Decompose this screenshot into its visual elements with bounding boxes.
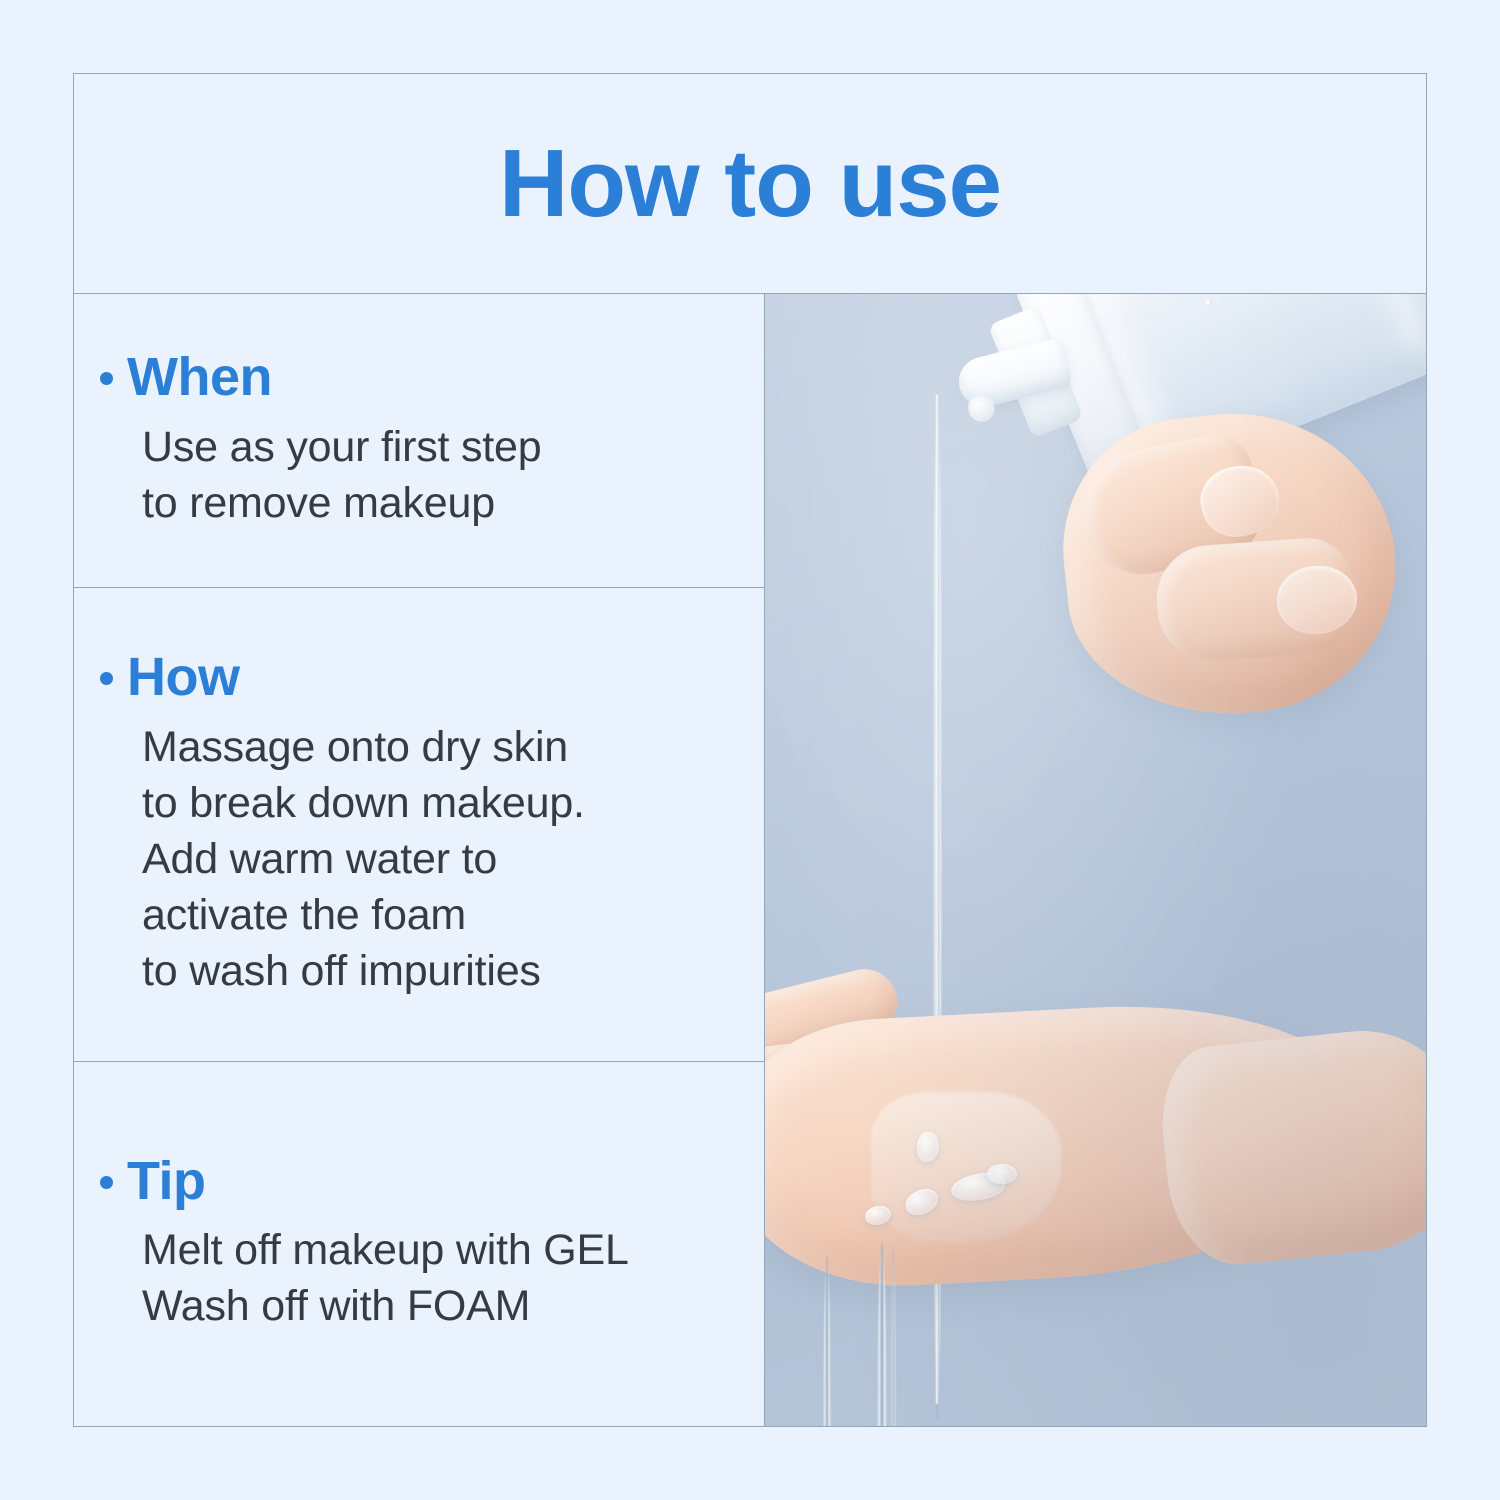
- product-photo: Luvum hyaluronic gel cleanser Natural Bl…: [765, 294, 1426, 1426]
- step-line: Melt off makeup with GEL: [142, 1223, 738, 1279]
- gel-droplet: [987, 1164, 1017, 1184]
- content-row: When Use as your first step to remove ma…: [74, 294, 1426, 1426]
- gel-drip: [823, 1256, 831, 1426]
- step-line: Use as your first step: [142, 420, 738, 476]
- bullet-dot-icon: [100, 1176, 113, 1189]
- step-heading-row-when: When: [100, 349, 738, 406]
- step-body-when: Use as your first step to remove makeup: [100, 420, 738, 532]
- page-title: How to use: [499, 136, 1001, 232]
- wrist: [1154, 1021, 1426, 1271]
- step-line: activate the foam: [142, 888, 738, 944]
- bullet-dot-icon: [100, 672, 113, 685]
- step-heading-row-tip: Tip: [100, 1153, 738, 1210]
- step-line: Wash off with FOAM: [142, 1279, 738, 1335]
- step-block-how: How Massage onto dry skin to break down …: [74, 588, 764, 1062]
- step-line: Massage onto dry skin: [142, 720, 738, 776]
- step-heading-tip: Tip: [127, 1153, 206, 1210]
- step-heading-when: When: [127, 349, 272, 406]
- step-body-tip: Melt off makeup with GEL Wash off with F…: [100, 1223, 738, 1335]
- steps-column: When Use as your first step to remove ma…: [74, 294, 765, 1426]
- gel-sheet: [871, 1092, 1061, 1242]
- title-band: How to use: [74, 74, 1426, 294]
- step-body-how: Massage onto dry skin to break down make…: [100, 720, 738, 999]
- step-line: to wash off impurities: [142, 944, 738, 1000]
- how-to-use-infographic: How to use When Use as your first step t…: [73, 73, 1427, 1427]
- step-block-when: When Use as your first step to remove ma…: [74, 294, 764, 588]
- step-heading-row-how: How: [100, 649, 738, 706]
- step-heading-how: How: [127, 649, 240, 706]
- step-line: to remove makeup: [142, 476, 738, 532]
- step-block-tip: Tip Melt off makeup with GEL Wash off wi…: [74, 1062, 764, 1426]
- step-line: Add warm water to: [142, 832, 738, 888]
- bullet-dot-icon: [100, 372, 113, 385]
- step-line: to break down makeup.: [142, 776, 738, 832]
